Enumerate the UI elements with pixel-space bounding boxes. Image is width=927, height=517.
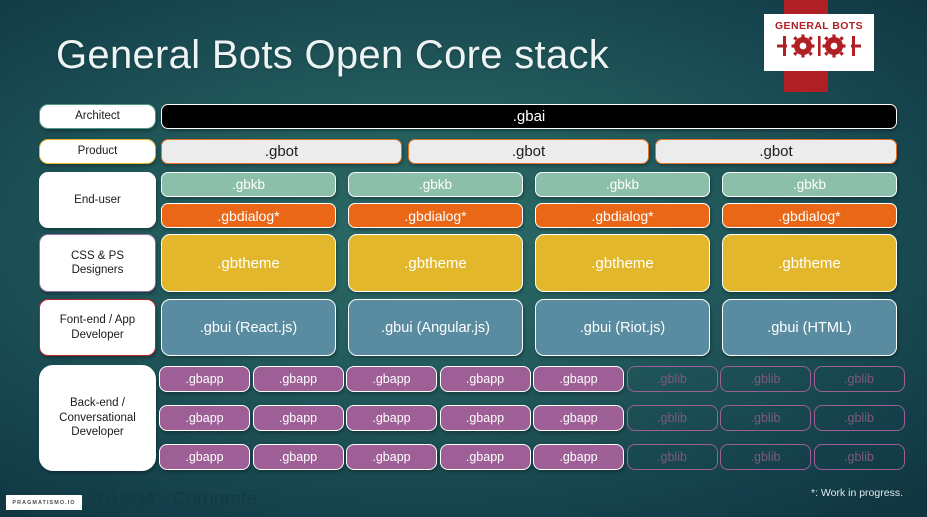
footer-caption: 2018Q4 - Corporate xyxy=(88,489,257,511)
role-label-text: CSS & PS Designers xyxy=(44,249,151,278)
package-label: .gbapp xyxy=(372,411,410,425)
role-label-front-end-app-developer: Font-end / App Developer xyxy=(39,299,156,356)
role-label-architect: Architect xyxy=(39,104,156,129)
package-label: .gbapp xyxy=(279,450,317,464)
layer-label: .gbui (React.js) xyxy=(200,320,298,336)
package-label: .gbapp xyxy=(466,450,504,464)
package-gbapp: .gbapp xyxy=(440,366,531,392)
package-gbapp: .gbapp xyxy=(533,405,624,431)
work-in-progress-note: *: Work in progress. xyxy=(811,487,903,499)
role-label-back-end-conversational-developer: Back-end / Conversational Developer xyxy=(39,365,156,471)
package-label: .gbapp xyxy=(559,372,597,386)
role-label-text: Back-end / Conversational Developer xyxy=(44,396,151,439)
package-label: .gbapp xyxy=(559,450,597,464)
role-label-product: Product xyxy=(39,139,156,164)
layer-gbtheme: .gbtheme xyxy=(348,234,523,292)
layer-gbdialog: .gbdialog* xyxy=(348,203,523,228)
layer-gbdialog: .gbdialog* xyxy=(535,203,710,228)
layer-label: .gbot xyxy=(759,143,792,160)
role-label-end-user: End-user xyxy=(39,172,156,228)
package-label: .gbapp xyxy=(185,411,223,425)
package-label: .gbapp xyxy=(466,411,504,425)
layer-gbkb: .gbkb xyxy=(161,172,336,197)
package-label: .gbapp xyxy=(559,411,597,425)
package-gblib: .gblib xyxy=(627,444,718,470)
package-gblib: .gblib xyxy=(720,405,811,431)
package-label: .gblib xyxy=(657,372,687,386)
package-gblib: .gblib xyxy=(627,405,718,431)
package-label: .gblib xyxy=(844,411,874,425)
role-label-text: End-user xyxy=(74,193,121,207)
package-label: .gblib xyxy=(657,411,687,425)
layer-label: .gbdialog* xyxy=(404,208,466,224)
layer-label: .gbtheme xyxy=(217,255,280,272)
package-gblib: .gblib xyxy=(814,405,905,431)
layer-gbui-html: .gbui (HTML) xyxy=(722,299,897,356)
layer-gbtheme: .gbtheme xyxy=(722,234,897,292)
package-gblib: .gblib xyxy=(720,366,811,392)
role-label-css-ps-designers: CSS & PS Designers xyxy=(39,234,156,292)
package-gbapp: .gbapp xyxy=(533,366,624,392)
layer-label: .gbui (HTML) xyxy=(767,320,852,336)
layer-label: .gbot xyxy=(265,143,298,160)
package-label: .gbapp xyxy=(185,372,223,386)
package-label: .gbapp xyxy=(279,372,317,386)
layer-label: .gbkb xyxy=(606,177,639,192)
package-gblib: .gblib xyxy=(720,444,811,470)
package-gbapp: .gbapp xyxy=(346,444,437,470)
layer-label: .gbdialog* xyxy=(217,208,279,224)
package-gbapp: .gbapp xyxy=(159,405,250,431)
layer-gbui-react: .gbui (React.js) xyxy=(161,299,336,356)
package-gblib: .gblib xyxy=(627,366,718,392)
package-label: .gbapp xyxy=(466,372,504,386)
layer-gbui-angular: .gbui (Angular.js) xyxy=(348,299,523,356)
layer-gbkb: .gbkb xyxy=(348,172,523,197)
layer-label: .gbdialog* xyxy=(778,208,840,224)
layer-label: .gbai xyxy=(513,108,546,125)
package-label: .gblib xyxy=(751,411,781,425)
package-gbapp: .gbapp xyxy=(253,366,344,392)
layer-gbai: .gbai xyxy=(161,104,897,129)
role-label-text: Product xyxy=(78,144,118,158)
package-label: .gbapp xyxy=(372,450,410,464)
package-gbapp: .gbapp xyxy=(440,405,531,431)
role-label-text: Font-end / App Developer xyxy=(44,313,151,342)
package-label: .gbapp xyxy=(372,372,410,386)
package-gbapp: .gbapp xyxy=(346,366,437,392)
package-label: .gbapp xyxy=(185,450,223,464)
package-label: .gblib xyxy=(751,450,781,464)
layer-gbtheme: .gbtheme xyxy=(161,234,336,292)
page-title: General Bots Open Core stack xyxy=(56,33,609,78)
pragmatismo-logo-text: PRAGMATISMO.IO xyxy=(12,500,75,506)
layer-label: .gbot xyxy=(512,143,545,160)
layer-label: .gbui (Angular.js) xyxy=(381,320,490,336)
package-label: .gbapp xyxy=(279,411,317,425)
layer-gbdialog: .gbdialog* xyxy=(161,203,336,228)
layer-gbkb: .gbkb xyxy=(722,172,897,197)
package-gbapp: .gbapp xyxy=(253,405,344,431)
package-label: .gblib xyxy=(657,450,687,464)
package-gbapp: .gbapp xyxy=(440,444,531,470)
layer-label: .gbkb xyxy=(793,177,826,192)
package-gblib: .gblib xyxy=(814,444,905,470)
brand-logo: GENERAL BOTS xyxy=(764,14,874,71)
pragmatismo-logo: PRAGMATISMO.IO xyxy=(6,495,82,510)
layer-gbot: .gbot xyxy=(161,139,402,164)
package-gbapp: .gbapp xyxy=(253,444,344,470)
package-label: .gblib xyxy=(751,372,781,386)
layer-label: .gbdialog* xyxy=(591,208,653,224)
layer-label: .gbkb xyxy=(232,177,265,192)
brand-name: GENERAL BOTS xyxy=(775,21,863,32)
package-gbapp: .gbapp xyxy=(159,366,250,392)
layer-label: .gbtheme xyxy=(778,255,841,272)
layer-gbtheme: .gbtheme xyxy=(535,234,710,292)
package-gbapp: .gbapp xyxy=(346,405,437,431)
package-gbapp: .gbapp xyxy=(533,444,624,470)
slide-canvas: GENERAL BOTS xyxy=(0,0,927,517)
role-label-text: Architect xyxy=(75,109,120,123)
layer-gbot: .gbot xyxy=(408,139,649,164)
layer-label: .gbkb xyxy=(419,177,452,192)
package-label: .gblib xyxy=(844,372,874,386)
layer-label: .gbtheme xyxy=(404,255,467,272)
package-gblib: .gblib xyxy=(814,366,905,392)
layer-gbui-riot: .gbui (Riot.js) xyxy=(535,299,710,356)
layer-gbdialog: .gbdialog* xyxy=(722,203,897,228)
package-label: .gblib xyxy=(844,450,874,464)
layer-label: .gbui (Riot.js) xyxy=(580,320,665,336)
gears-logo-icon xyxy=(777,33,861,64)
package-gbapp: .gbapp xyxy=(159,444,250,470)
layer-gbot: .gbot xyxy=(655,139,897,164)
layer-label: .gbtheme xyxy=(591,255,654,272)
layer-gbkb: .gbkb xyxy=(535,172,710,197)
